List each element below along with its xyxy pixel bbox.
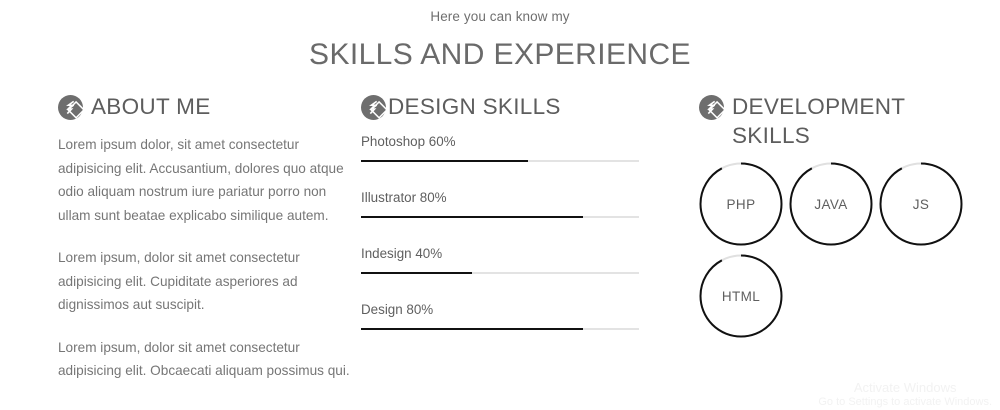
about-me-section: ABOUT ME Lorem ipsum dolor, sit amet con…: [58, 92, 358, 383]
skill-row: Illustrator 80%: [361, 189, 671, 218]
development-skills-grid: PHP JAVA JS: [699, 162, 964, 338]
skill-circle-label: JS: [913, 197, 930, 212]
skill-circle: PHP: [699, 162, 783, 246]
diamond-badge-icon: [699, 95, 724, 120]
watermark-subtitle: Go to Settings to activate Windows.: [818, 396, 992, 409]
about-paragraph: Lorem ipsum dolor, sit amet consectetur …: [58, 133, 358, 227]
skill-bar-track: [361, 328, 639, 330]
diamond-badge-icon: [58, 95, 83, 120]
skill-bar-track: [361, 216, 639, 218]
page-title: SKILLS AND EXPERIENCE: [0, 35, 1000, 75]
windows-activation-watermark: Activate Windows Go to Settings to activ…: [818, 380, 992, 409]
skill-label: Illustrator 80%: [361, 189, 671, 207]
development-skills-heading: DEVELOPMENT SKILLS: [699, 92, 964, 150]
about-me-title: ABOUT ME: [91, 92, 211, 121]
page-header: Here you can know my SKILLS AND EXPERIEN…: [0, 0, 1000, 75]
about-paragraph: Lorem ipsum, dolor sit amet consectetur …: [58, 336, 358, 383]
skill-bar-track: [361, 272, 639, 274]
skill-bar-fill: [361, 216, 583, 218]
skill-circle-label: HTML: [722, 289, 760, 304]
skill-bar-fill: [361, 160, 528, 162]
skill-bar-track: [361, 160, 639, 162]
content-columns: ABOUT ME Lorem ipsum dolor, sit amet con…: [0, 92, 1000, 383]
skill-circle-label: JAVA: [814, 197, 847, 212]
development-skills-section: DEVELOPMENT SKILLS PHP JAVA: [699, 92, 964, 338]
about-me-heading: ABOUT ME: [58, 92, 358, 121]
skill-circle: HTML: [699, 254, 783, 338]
design-skills-title: DESIGN SKILLS: [388, 92, 561, 121]
skill-circle: JS: [879, 162, 963, 246]
design-skills-section: DESIGN SKILLS Photoshop 60% Illustrator …: [361, 92, 671, 330]
header-eyebrow: Here you can know my: [0, 8, 1000, 26]
skill-label: Design 80%: [361, 301, 671, 319]
skill-bar-fill: [361, 272, 472, 274]
development-skills-title: DEVELOPMENT SKILLS: [732, 92, 964, 150]
skill-row: Design 80%: [361, 301, 671, 330]
diamond-badge-icon: [361, 95, 386, 120]
skill-row: Photoshop 60%: [361, 133, 671, 162]
skill-bar-fill: [361, 328, 583, 330]
skill-circle-label: PHP: [727, 197, 756, 212]
skill-label: Indesign 40%: [361, 245, 671, 263]
design-skills-heading: DESIGN SKILLS: [361, 92, 671, 121]
about-paragraph: Lorem ipsum, dolor sit amet consectetur …: [58, 246, 358, 317]
skill-row: Indesign 40%: [361, 245, 671, 274]
skill-label: Photoshop 60%: [361, 133, 671, 151]
skill-circle: JAVA: [789, 162, 873, 246]
